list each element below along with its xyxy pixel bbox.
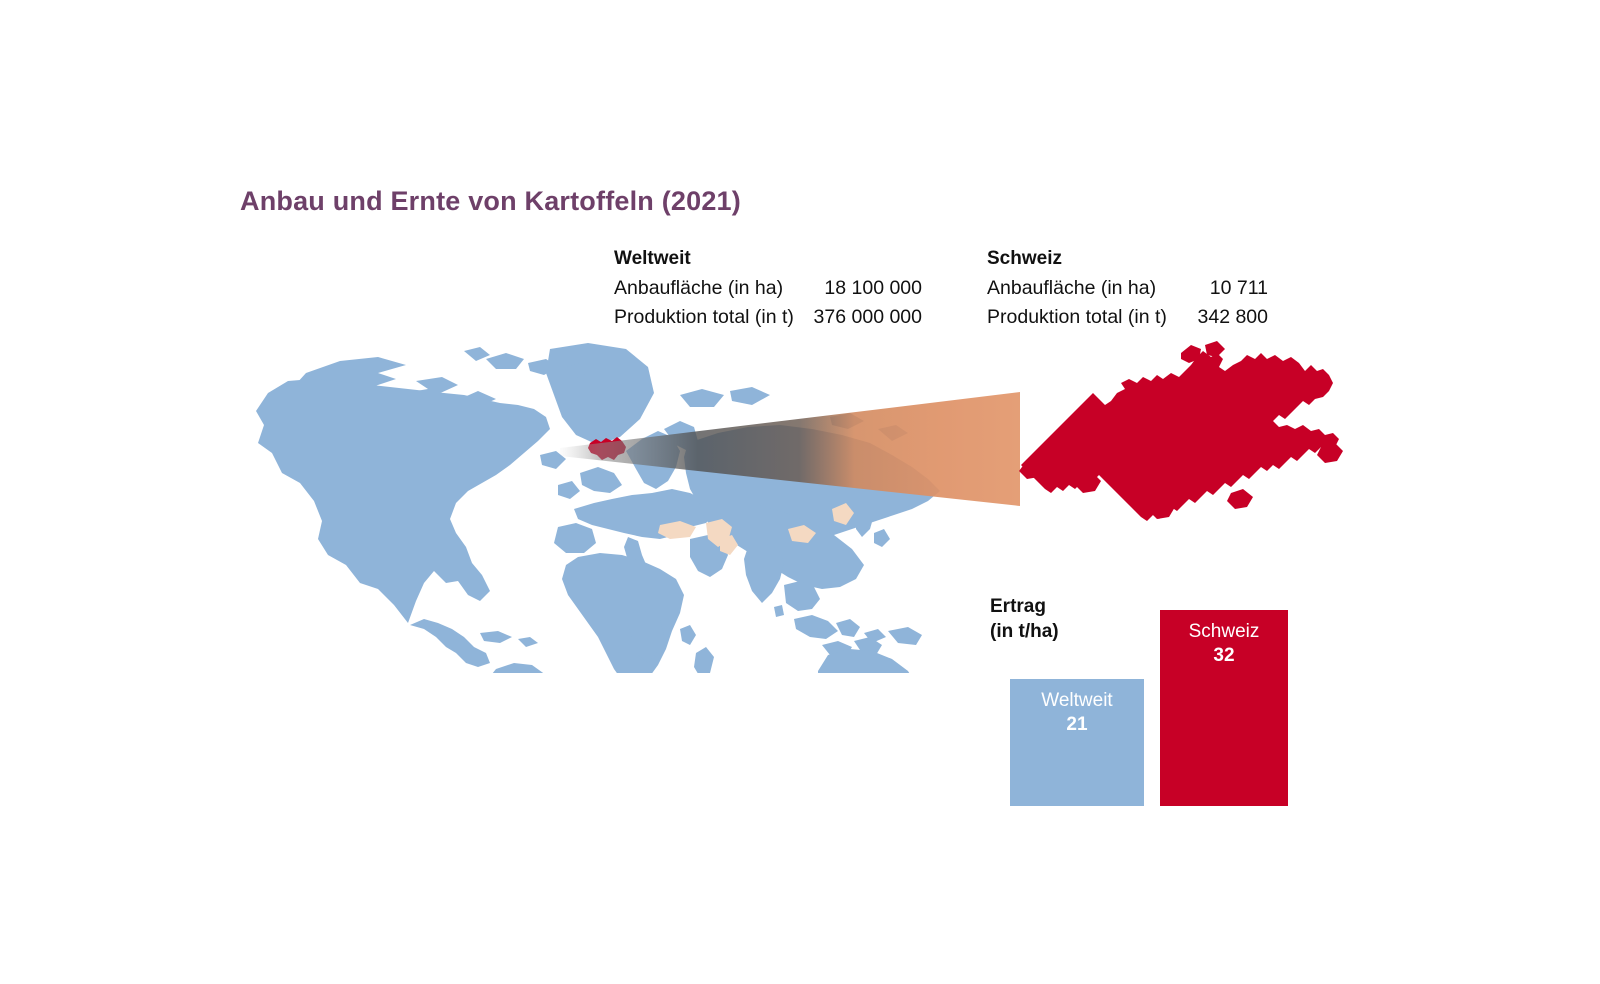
map-illustration <box>0 0 1600 984</box>
bar-label-weltweit: Weltweit <box>1010 679 1144 712</box>
switzerland-map <box>985 335 1345 565</box>
ertrag-axis-label-line1: Ertrag <box>990 596 1046 617</box>
bar-value-schweiz: 32 <box>1160 643 1288 669</box>
ertrag-bar-chart: Ertrag (in t/ha) Weltweit 21 Schweiz 32 <box>985 580 1305 820</box>
ertrag-axis-label: Ertrag (in t/ha) <box>990 594 1059 644</box>
ertrag-axis-label-line2: (in t/ha) <box>990 621 1059 642</box>
bar-schweiz[interactable]: Schweiz 32 <box>1160 610 1288 806</box>
bar-weltweit[interactable]: Weltweit 21 <box>1010 679 1144 806</box>
bar-value-weltweit: 21 <box>1010 712 1144 738</box>
bar-label-schweiz: Schweiz <box>1160 610 1288 643</box>
zoom-cone <box>560 370 1020 550</box>
